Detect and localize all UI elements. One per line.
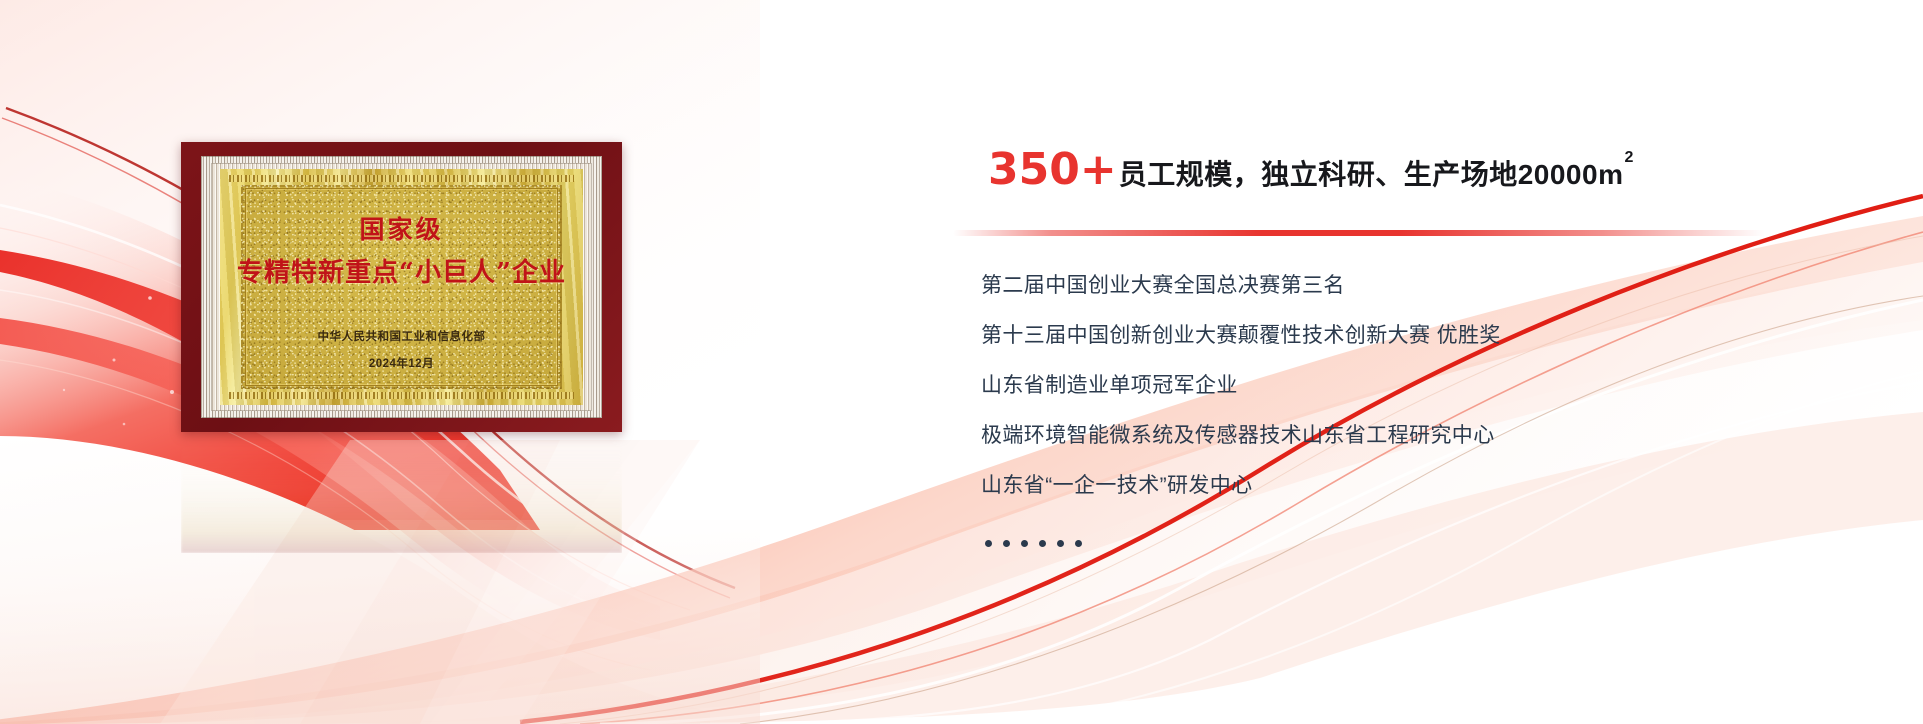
- plaque-silver-border-outer: 国家级 专精特新重点“小巨人”企业 中华人民共和国工业和信息化部 2024年12…: [201, 156, 602, 418]
- headline-metric-text-main: 员工规模，独立科研、生产场地20000m: [1119, 159, 1624, 190]
- ellipsis-dot: [1021, 540, 1028, 547]
- plaque-date: 2024年12月: [369, 355, 434, 371]
- plaque-title-line-1: 国家级: [359, 217, 443, 242]
- plaque-frame: 国家级 专精特新重点“小巨人”企业 中华人民共和国工业和信息化部 2024年12…: [181, 142, 622, 432]
- award-item: 第十三届中国创新创业大赛颠覆性技术创新大赛 优胜奖: [981, 325, 1811, 346]
- plaque-gold-plate: 国家级 专精特新重点“小巨人”企业 中华人民共和国工业和信息化部 2024年12…: [220, 169, 583, 405]
- award-banner: 国家级 专精特新重点“小巨人”企业 中华人民共和国工业和信息化部 2024年12…: [0, 0, 1923, 724]
- ellipsis-dot: [1039, 540, 1046, 547]
- content-column: 350+ 员工规模，独立科研、生产场地20000m2 第二届中国创业大赛全国总决…: [988, 148, 1808, 192]
- plaque-silver-border-inner: 国家级 专精特新重点“小巨人”企业 中华人民共和国工业和信息化部 2024年12…: [211, 163, 592, 411]
- award-item: 第二届中国创业大赛全国总决赛第三名: [981, 275, 1811, 296]
- ellipsis-dots: [985, 540, 1082, 547]
- headline-metric-text: 员工规模，独立科研、生产场地20000m2: [1119, 161, 1633, 189]
- headline-metric-number: 350+: [988, 148, 1117, 192]
- ellipsis-dot: [1003, 540, 1010, 547]
- plaque-reflection: [181, 433, 622, 553]
- plaque-issuer: 中华人民共和国工业和信息化部: [318, 328, 486, 344]
- ellipsis-dot: [1075, 540, 1082, 547]
- award-item: 极端环境智能微系统及传感器技术山东省工程研究中心: [981, 425, 1811, 446]
- ellipsis-dot: [985, 540, 992, 547]
- headline: 350+ 员工规模，独立科研、生产场地20000m2: [988, 148, 1808, 192]
- award-plaque: 国家级 专精特新重点“小巨人”企业 中华人民共和国工业和信息化部 2024年12…: [181, 142, 622, 432]
- plaque-title-line-2: 专精特新重点“小巨人”企业: [237, 260, 566, 286]
- award-item: 山东省“一企一技术”研发中心: [981, 475, 1811, 496]
- headline-unit-superscript: 2: [1624, 149, 1633, 166]
- ellipsis-dot: [1057, 540, 1064, 547]
- plaque-reflection-light: [160, 440, 700, 724]
- headline-underline-rule: [953, 230, 1765, 236]
- award-list: 第二届中国创业大赛全国总决赛第三名 第十三届中国创新创业大赛颠覆性技术创新大赛 …: [981, 275, 1811, 525]
- award-item: 山东省制造业单项冠军企业: [981, 375, 1811, 396]
- plaque-text-block: 国家级 专精特新重点“小巨人”企业 中华人民共和国工业和信息化部 2024年12…: [220, 169, 583, 405]
